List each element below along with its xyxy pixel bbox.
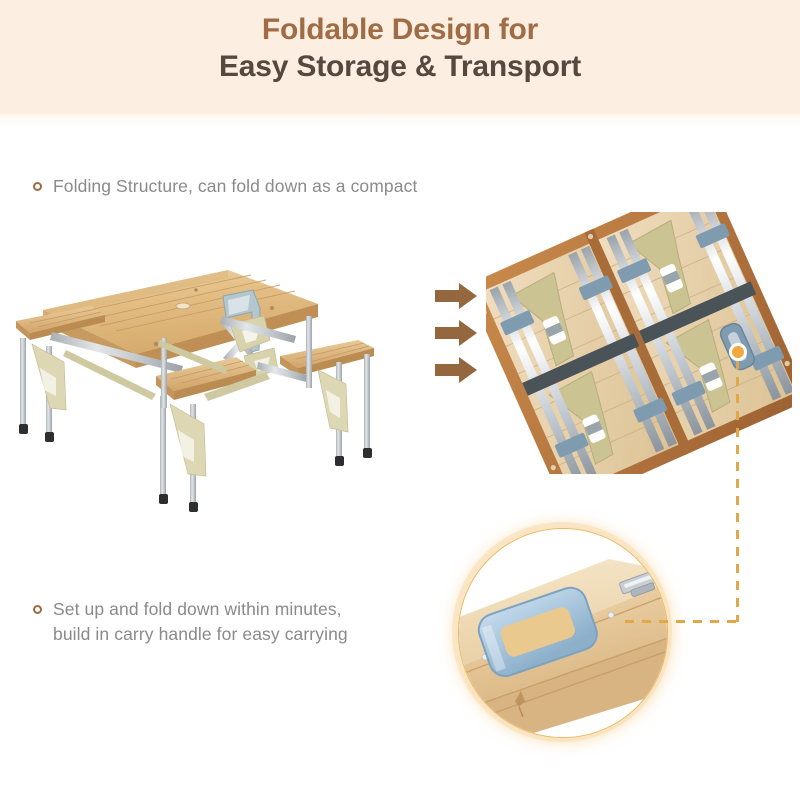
arrow-right-icon	[435, 357, 477, 383]
callout-line-horizontal	[625, 620, 739, 623]
header-fade-strip	[0, 114, 800, 126]
arrow-right-icon	[435, 320, 477, 346]
arrow-right-icon	[435, 283, 477, 309]
callout-marker-dot	[729, 343, 747, 361]
ring-bullet-icon	[33, 605, 42, 614]
feature-bullet-label: Folding Structure, can fold down as a co…	[53, 174, 417, 199]
title-line-primary: Foldable Design for	[0, 12, 800, 47]
detail-inset-carry-handle	[458, 528, 668, 738]
ring-bullet-icon	[33, 182, 42, 191]
bench-front-center	[156, 357, 270, 512]
product-image-open-table	[8, 228, 408, 513]
infographic-page: Foldable Design for Easy Storage & Trans…	[0, 0, 800, 800]
feature-bullet-folding-structure: Folding Structure, can fold down as a co…	[33, 174, 417, 199]
product-image-folded-case	[486, 212, 792, 474]
feature-bullet-label: Set up and fold down within minutes, bui…	[53, 597, 348, 648]
title-line-secondary: Easy Storage & Transport	[0, 49, 800, 84]
transition-arrows	[435, 283, 477, 394]
feature-bullet-carry-handle: Set up and fold down within minutes, bui…	[33, 597, 348, 648]
page-title: Foldable Design for Easy Storage & Trans…	[0, 12, 800, 85]
callout-line-vertical	[736, 360, 739, 622]
